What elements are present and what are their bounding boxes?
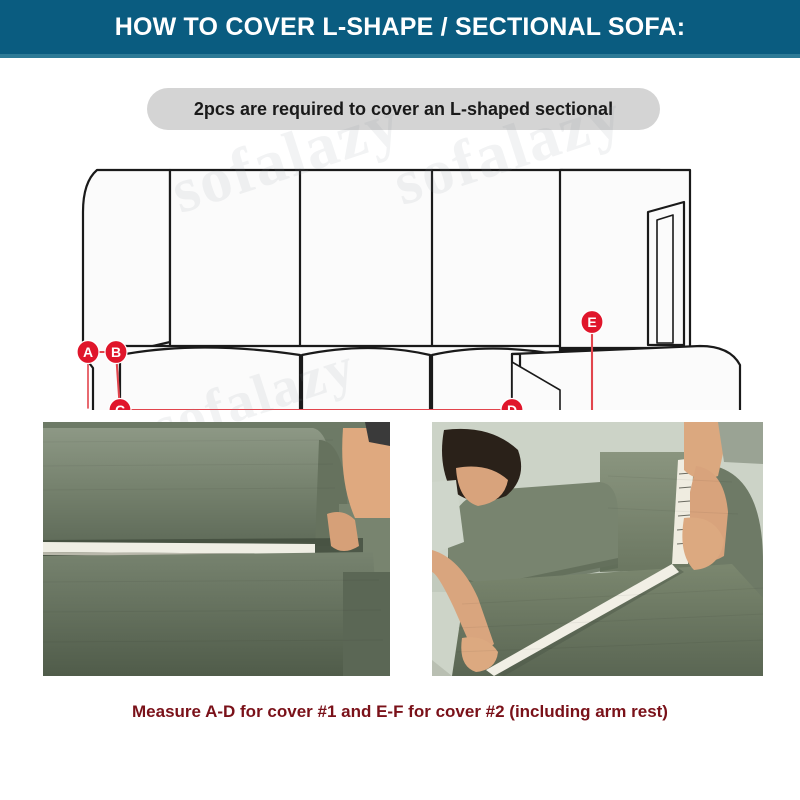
marker-e-label: E — [587, 314, 596, 330]
sofa-seat-cushion — [43, 552, 381, 676]
right-sleeve — [718, 422, 763, 464]
marker-b-label: B — [111, 344, 121, 360]
page-title: HOW TO COVER L-SHAPE / SECTIONAL SOFA: — [0, 0, 800, 54]
sofa-diagram: sofalazy sofalazy sofalazy — [0, 140, 800, 410]
sofa-seat — [452, 564, 763, 676]
marker-c-label: C — [115, 402, 125, 410]
marker-a-label: A — [83, 344, 93, 360]
infographic-page: HOW TO COVER L-SHAPE / SECTIONAL SOFA: 2… — [0, 0, 800, 800]
sofa-seat-right — [343, 572, 390, 676]
photo-right-illustration — [432, 422, 763, 676]
marker-a: A — [77, 341, 99, 364]
photo-measuring-seat-width — [43, 422, 390, 676]
marker-d-label: D — [507, 402, 517, 410]
marker-e: E — [581, 311, 603, 334]
photo-left-illustration — [43, 422, 390, 676]
photo-measuring-with-tape — [432, 422, 763, 676]
sofa-back-cushion — [43, 428, 335, 544]
header-underline — [0, 54, 800, 58]
measuring-tape — [43, 542, 315, 554]
marker-b: B — [105, 341, 127, 364]
chaise-arm-rest-inner — [657, 215, 673, 343]
footer-caption: Measure A-D for cover #1 and E-F for cov… — [0, 702, 800, 722]
